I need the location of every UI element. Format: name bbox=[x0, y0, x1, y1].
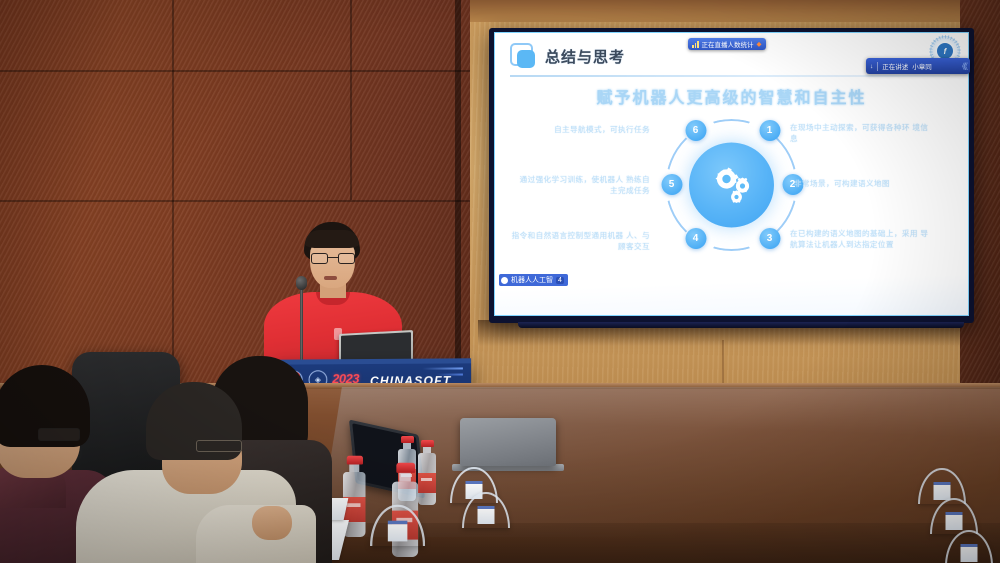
badge-dot-icon bbox=[501, 277, 508, 284]
livestream-viewer-badge: 正在直播人数统计 ◆ bbox=[688, 38, 766, 50]
bottle-label bbox=[418, 473, 436, 493]
diagram-label-4: 指令和自然语言控制型通用机器 人、与顾客交互 bbox=[508, 230, 650, 252]
diagram-label-2: 非常场景，可构建语义地图 bbox=[794, 178, 934, 189]
decor-streak bbox=[436, 374, 462, 376]
bottle-cap bbox=[346, 456, 362, 465]
wall-seam bbox=[350, 0, 352, 200]
chart-bars-icon bbox=[692, 41, 699, 48]
circular-process-diagram: 1 2 3 4 5 6 bbox=[659, 112, 804, 257]
wall-seam bbox=[172, 70, 174, 360]
download-arrow-icon: ↓ bbox=[870, 63, 873, 70]
diagram-label-3: 在已构建的语义地图的基础上，采用 导航算法让机器人到达指定位置 bbox=[790, 228, 936, 250]
diagram-label-6: 自主导航模式，可执行任务 bbox=[528, 124, 650, 135]
diagram-node-5: 5 bbox=[661, 174, 682, 195]
name-card-holder bbox=[930, 498, 978, 534]
badge-number: 4 bbox=[556, 277, 564, 284]
name-card-holder bbox=[370, 505, 425, 546]
wall-upper-trim bbox=[470, 0, 970, 22]
macbook-laptop bbox=[460, 418, 556, 466]
apple-logo-icon bbox=[502, 435, 515, 450]
microphone-icon bbox=[296, 276, 307, 290]
diagram-node-3: 3 bbox=[759, 228, 780, 249]
chevron-left-icon: 《《 bbox=[958, 61, 966, 72]
diagram-label-5: 通过强化学习训练，使机器人 熟练自主完成任务 bbox=[512, 174, 650, 196]
badge-label: 机器人人工智 bbox=[511, 275, 553, 285]
wall-seam bbox=[172, 0, 174, 70]
name-card bbox=[961, 544, 978, 562]
name-card-holder bbox=[945, 530, 993, 563]
diagram-node-4: 4 bbox=[685, 228, 706, 249]
water-bottle bbox=[418, 440, 436, 505]
slide-heading: 赋予机器人更高级的智慧和自主性 bbox=[494, 84, 969, 108]
name-card-holder bbox=[462, 492, 510, 528]
bottle-cap bbox=[396, 463, 415, 473]
slide-header-title: 总结与思考 bbox=[545, 46, 625, 67]
slide-header-rule bbox=[510, 75, 950, 77]
podium-top-edge bbox=[273, 358, 471, 364]
wall-corner bbox=[455, 0, 461, 420]
slide-header: 总结与思考 bbox=[510, 43, 625, 69]
now-speaking-bar: ↓ 正在讲述 小章同 《《 bbox=[866, 58, 970, 74]
logo-mark: f bbox=[937, 43, 953, 59]
diagram-node-6: 6 bbox=[685, 120, 706, 141]
conference-room-photo: 总结与思考 f 赋予机器人更高级的智慧和自主性 bbox=[0, 0, 1000, 563]
speaker-name: 小章同 bbox=[912, 61, 932, 71]
name-card bbox=[946, 512, 963, 530]
now-speaking-label: 正在讲述 bbox=[882, 61, 908, 71]
attendee-2-hand bbox=[252, 506, 292, 540]
presenter-fringe bbox=[305, 230, 359, 248]
presenter-glasses bbox=[311, 253, 355, 264]
gears-icon bbox=[706, 161, 758, 209]
divider bbox=[877, 62, 878, 71]
attendee-2-glasses bbox=[196, 440, 242, 452]
bottle-cap bbox=[401, 436, 414, 443]
bottle-cap bbox=[421, 440, 434, 447]
diagram-label-1: 在现场中主动探索，可获得各种环 境信息 bbox=[790, 122, 930, 144]
flame-icon: ◆ bbox=[757, 40, 762, 48]
livestream-viewer-label: 正在直播人数统计 bbox=[702, 39, 754, 49]
rounded-square-icon bbox=[510, 43, 536, 69]
presenter-mouth bbox=[324, 276, 337, 280]
decor-streak bbox=[422, 367, 463, 369]
wall-seam bbox=[0, 70, 470, 72]
attendee-1-glasses bbox=[38, 428, 80, 441]
diagram-node-1: 1 bbox=[759, 120, 780, 141]
slide-content: 总结与思考 f 赋予机器人更高级的智慧和自主性 bbox=[494, 32, 969, 316]
name-card bbox=[388, 521, 408, 542]
name-card bbox=[478, 506, 495, 524]
slide-corner-badge: 机器人人工智 4 bbox=[499, 274, 568, 286]
wall-seam bbox=[0, 200, 470, 202]
